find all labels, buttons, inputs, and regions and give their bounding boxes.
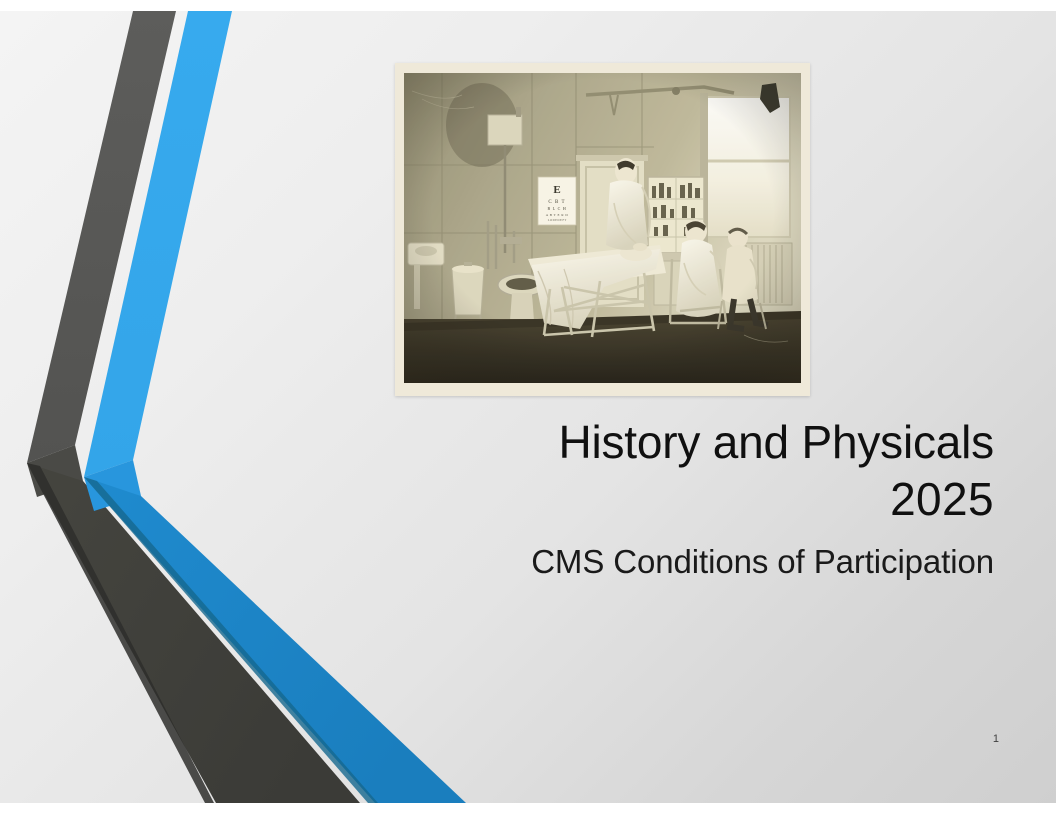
slide-canvas: E C B T B L C H A B T E R D L O D E D E … [0, 11, 1056, 803]
title-photograph: E C B T B L C H A B T E R D L O D E D E … [404, 73, 801, 383]
chevron-gray-band [27, 11, 360, 803]
title-photograph-frame: E C B T B L C H A B T E R D L O D E D E … [395, 63, 810, 396]
title-year: 2025 [294, 469, 994, 530]
slide-number: 1 [993, 733, 999, 745]
title-text-block: History and Physicals 2025 CMS Condition… [294, 415, 994, 582]
page-subtitle: CMS Conditions of Participation [294, 542, 994, 582]
page-title: History and Physicals [294, 415, 994, 469]
